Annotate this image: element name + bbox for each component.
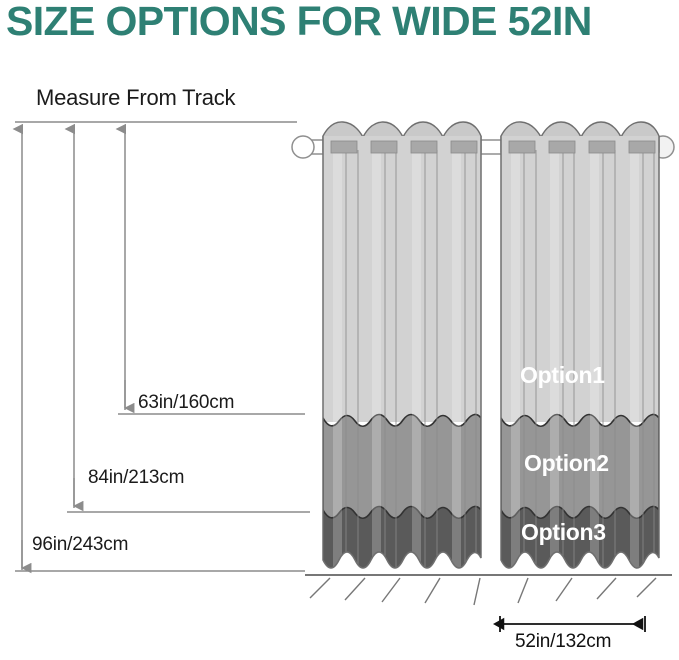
curtain-option-label-2: Option2 <box>524 450 609 477</box>
curtain-option-label-3: Option3 <box>521 519 606 546</box>
dimension-label-option2: 84in/213cm <box>88 467 184 489</box>
rod-finial-left <box>292 136 314 158</box>
diagram-graphics <box>0 0 679 660</box>
curtain-panel-right <box>501 122 659 580</box>
dimension-label-option1: 63in/160cm <box>138 392 234 414</box>
curtain-option-label-1: Option1 <box>520 362 605 389</box>
size-options-diagram: SIZE OPTIONS FOR WIDE 52IN Measure From … <box>0 0 679 660</box>
dimension-label-width: 52in/132cm <box>515 631 611 653</box>
dimension-label-option3: 96in/243cm <box>32 534 128 556</box>
curtain-panel-left <box>323 122 481 580</box>
floor-hatching <box>310 578 656 605</box>
